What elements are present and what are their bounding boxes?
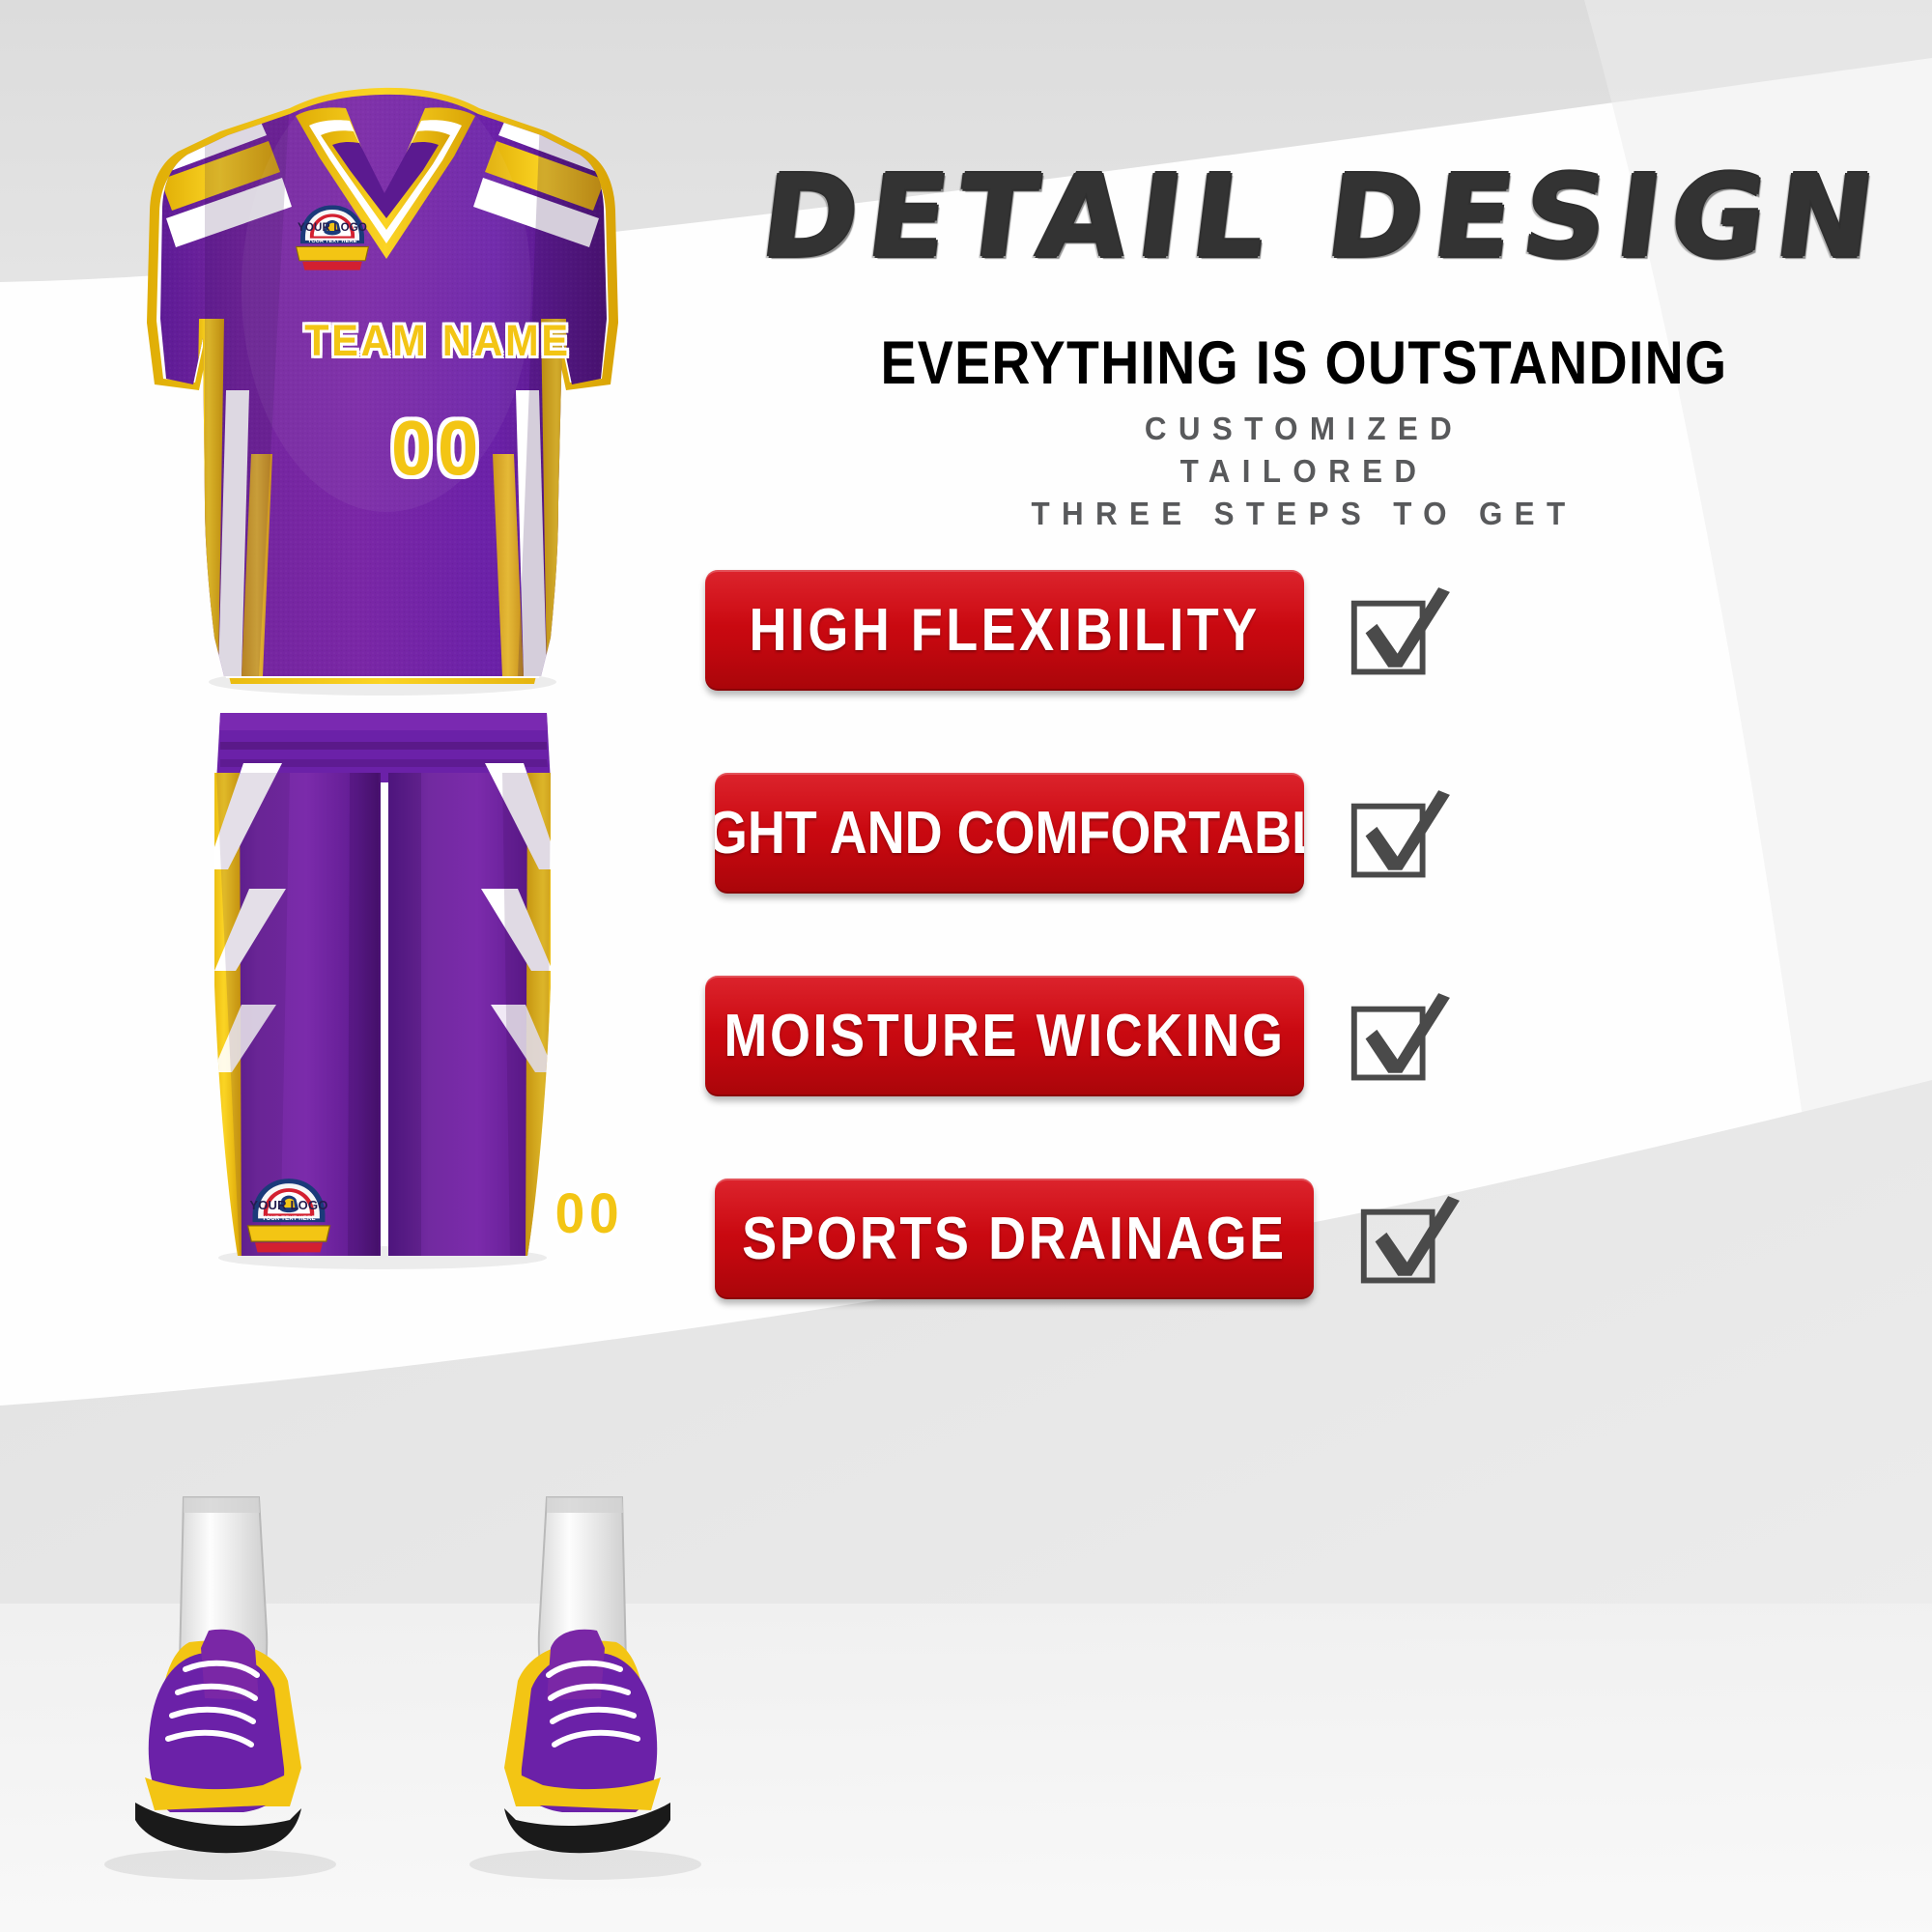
feature-label: HIGH FLEXIBILITY — [749, 596, 1260, 665]
feature-banner-sports-drainage[interactable]: SPORTS DRAINAGE — [715, 1179, 1314, 1299]
feature-banner-light-and-comfortable[interactable]: LIGHT AND COMFORTABLE — [715, 773, 1304, 894]
check-square-icon — [1343, 777, 1457, 891]
jersey-logo-title: YOUR LOGO — [290, 222, 375, 234]
feature-row: MOISTURE WICKING — [705, 976, 1864, 1096]
feature-label: SPORTS DRAINAGE — [742, 1205, 1287, 1273]
shoe-left — [104, 1630, 336, 1880]
feature-row: HIGH FLEXIBILITY — [705, 570, 1864, 691]
shorts-logo-subtitle: YOUR TEXT HERE — [241, 1216, 337, 1222]
feature-banner-high-flexibility[interactable]: HIGH FLEXIBILITY — [705, 570, 1304, 691]
feature-list: HIGH FLEXIBILITY LIGHT AND COMFORTABLE — [705, 570, 1864, 1381]
feature-label: MOISTURE WICKING — [724, 1002, 1285, 1070]
content-column: DETAIL DESIGN EVERYTHING IS OUTSTANDING … — [763, 145, 1903, 1517]
subtitle: EVERYTHING IS OUTSTANDING — [828, 328, 1780, 398]
jersey-team-name: TEAM NAME — [287, 316, 589, 366]
shorts-logo-svg — [241, 1174, 337, 1255]
feature-row: SPORTS DRAINAGE — [705, 1179, 1864, 1299]
feature-banner-moisture-wicking[interactable]: MOISTURE WICKING — [705, 976, 1304, 1096]
jersey — [147, 68, 618, 696]
shoes — [104, 1630, 701, 1880]
check-square-icon — [1352, 1182, 1466, 1296]
feature-label: LIGHT AND COMFORTABLE — [715, 799, 1304, 867]
shorts-logo-title: YOUR LOGO — [241, 1198, 337, 1212]
tagline-block: CUSTOMIZED TAILORED THREE STEPS TO GET — [763, 408, 1845, 535]
jersey-number: 00 — [341, 404, 534, 493]
shoe-right — [469, 1630, 701, 1880]
tagline-customized: CUSTOMIZED — [790, 408, 1818, 450]
tagline-tailored: TAILORED — [790, 450, 1818, 493]
jersey-logo-subtitle: YOUR TEXT HERE — [290, 239, 375, 244]
product-mockup: TEAM NAME 00 00 YOUR LOGO YOUR TEXT HERE — [0, 0, 773, 1932]
jersey-logo-badge: YOUR LOGO YOUR TEXT HERE — [290, 201, 375, 272]
poster-canvas: TEAM NAME 00 00 YOUR LOGO YOUR TEXT HERE — [0, 0, 1932, 1932]
shorts-number: 00 — [511, 1181, 668, 1246]
uniform-illustration — [0, 0, 773, 1932]
shorts-logo-badge: YOUR LOGO YOUR TEXT HERE — [241, 1174, 337, 1255]
check-square-icon — [1343, 980, 1457, 1094]
tagline-three-steps: THREE STEPS TO GET — [790, 493, 1818, 535]
page-title: DETAIL DESIGN — [756, 159, 1852, 273]
title-block: DETAIL DESIGN — [763, 159, 1845, 273]
check-square-icon — [1343, 574, 1457, 688]
feature-row: LIGHT AND COMFORTABLE — [705, 773, 1864, 894]
jersey-logo-svg — [290, 201, 375, 272]
